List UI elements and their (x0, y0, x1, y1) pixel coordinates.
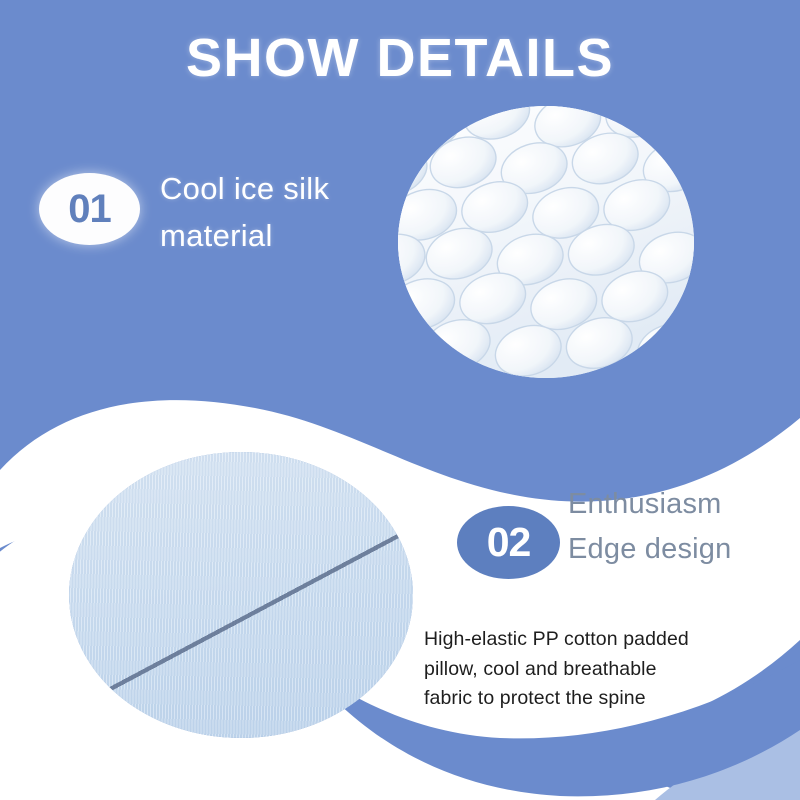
feature-heading-02: Enthusiasm Edge design (568, 482, 800, 572)
feature-number-badge-02: 02 (457, 506, 560, 579)
feature-description-02-line-3: fabric to protect the spine (424, 684, 764, 714)
page-title: SHOW DETAILS (0, 30, 800, 87)
feature-heading-02-line-2: Edge design (568, 527, 800, 572)
feature-description-02-line-2: pillow, cool and breathable (424, 655, 764, 685)
feature-number-badge-01: 01 (39, 173, 140, 245)
promo-banner: SHOW DETAILS (0, 0, 800, 800)
feature-description-02-line-1: High-elastic PP cotton padded (424, 625, 764, 655)
feature-heading-02-line-1: Enthusiasm (568, 482, 800, 527)
feature-heading-01: Cool ice silk material (160, 165, 490, 259)
pillow-edge-striped-fabric-photo (69, 452, 413, 738)
fabric-seam-line (69, 452, 413, 738)
feature-heading-01-line-1: Cool ice silk (160, 165, 490, 212)
feature-heading-01-line-2: material (160, 212, 490, 259)
feature-description-02: High-elastic PP cotton padded pillow, co… (424, 625, 764, 714)
